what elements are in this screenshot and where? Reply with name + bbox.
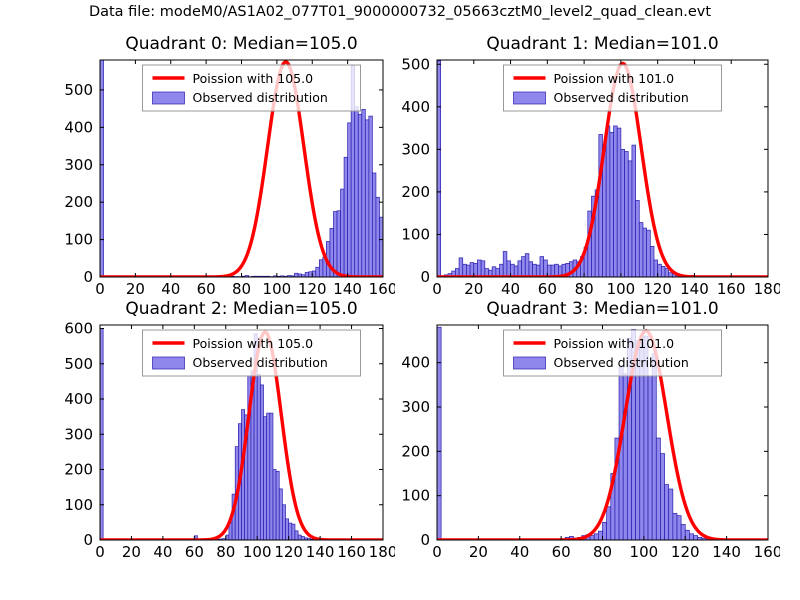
histogram-bar <box>654 260 658 277</box>
histogram-bar <box>292 524 295 540</box>
histogram-bar <box>337 211 341 277</box>
histogram-bar <box>301 536 304 540</box>
x-tick-label: 140 <box>333 280 362 298</box>
histogram-bar <box>632 145 636 277</box>
y-tick-label: 400 <box>64 390 93 408</box>
x-tick-label: 160 <box>754 543 780 561</box>
histogram-bar <box>544 260 548 277</box>
y-tick-label: 200 <box>401 442 430 460</box>
histogram-bar <box>665 268 669 277</box>
histogram-bar <box>333 212 337 277</box>
chart-svg-quadrant-3: 0204060801001201401600100200300400Poissi… <box>379 319 780 566</box>
histogram-bar <box>677 516 681 540</box>
histogram-bar <box>344 157 348 277</box>
histogram-bar <box>540 257 544 277</box>
histogram-bar <box>437 61 441 277</box>
legend-bar-swatch <box>153 357 185 369</box>
x-tick-label: 60 <box>552 543 571 561</box>
chart-legend: Poission with 101.0Observed distribution <box>504 330 722 376</box>
histogram-bar <box>594 534 598 540</box>
histogram-bar <box>470 263 474 277</box>
chart-panel-quadrant-2: Quadrant 2: Median=105.00204060801001201… <box>42 319 395 566</box>
y-tick-label: 300 <box>64 425 93 443</box>
histogram-bar <box>628 161 632 277</box>
legend-bar-swatch <box>514 357 546 369</box>
x-tick-label: 100 <box>630 543 659 561</box>
histogram-bar <box>650 246 654 277</box>
x-tick-label: 140 <box>306 543 335 561</box>
x-tick-label: 80 <box>216 543 235 561</box>
y-tick-label: 400 <box>64 118 93 136</box>
x-tick-label: 80 <box>593 543 612 561</box>
chart-title-quadrant-1: Quadrant 1: Median=101.0 <box>437 34 768 54</box>
histogram-bar <box>689 534 693 540</box>
histogram-bar <box>652 354 656 540</box>
histogram-bar <box>282 505 285 540</box>
histogram-bar <box>606 126 610 277</box>
histogram-bar <box>369 116 373 277</box>
histogram-bar <box>685 530 689 540</box>
histogram-bar <box>372 173 376 277</box>
chart-panel-quadrant-0: Quadrant 0: Median=105.00204060801001201… <box>42 54 395 303</box>
x-tick-label: 60 <box>197 280 216 298</box>
x-tick-label: 40 <box>153 543 172 561</box>
chart-legend: Poission with 101.0Observed distribution <box>504 65 722 111</box>
x-tick-label: 140 <box>712 543 741 561</box>
histogram-bar <box>295 531 298 540</box>
x-tick-label: 100 <box>243 543 272 561</box>
histogram-bar <box>621 149 625 277</box>
histogram-bar <box>669 489 673 540</box>
histogram-bar <box>681 524 685 540</box>
histogram-bar <box>295 273 299 277</box>
x-tick-label: 20 <box>469 543 488 561</box>
histogram-bar <box>598 531 602 540</box>
histogram-bar <box>309 272 313 277</box>
histogram-bar <box>437 327 441 540</box>
histogram-bar <box>536 265 540 277</box>
legend-label-observed: Observed distribution <box>193 90 328 105</box>
y-tick-label: 300 <box>401 140 430 158</box>
histogram-bar <box>643 228 647 277</box>
legend-bar-swatch <box>514 92 546 104</box>
histogram-bar <box>614 126 618 277</box>
legend-label-observed: Observed distribution <box>193 355 328 370</box>
x-tick-label: 120 <box>274 543 303 561</box>
histogram-bar <box>658 264 662 277</box>
histogram-bar <box>365 120 369 277</box>
histogram-bar <box>607 507 611 540</box>
histogram-bar <box>355 107 359 277</box>
histogram-bar <box>661 266 665 277</box>
histogram-bar <box>590 536 594 540</box>
y-tick-label: 0 <box>420 531 430 549</box>
x-tick-label: 40 <box>161 280 180 298</box>
y-tick-label: 100 <box>64 231 93 249</box>
histogram-bar <box>273 470 276 540</box>
x-tick-label: 20 <box>122 543 141 561</box>
data-file-title: Data file: modeM0/AS1A02_077T01_90000007… <box>0 4 800 20</box>
figure-canvas: Data file: modeM0/AS1A02_077T01_90000007… <box>0 0 800 600</box>
y-tick-label: 100 <box>401 225 430 243</box>
x-tick-label: 80 <box>232 280 251 298</box>
histogram-bar <box>625 151 629 277</box>
y-tick-label: 100 <box>64 496 93 514</box>
histogram-bar <box>362 109 366 277</box>
histogram-bar <box>503 251 507 277</box>
x-tick-label: 40 <box>501 280 520 298</box>
histogram-bar <box>298 535 301 540</box>
histogram-bar <box>617 128 621 277</box>
histogram-bar <box>500 264 504 277</box>
histogram-bar <box>507 261 511 277</box>
histogram-bar <box>474 263 478 277</box>
y-tick-label: 200 <box>64 193 93 211</box>
histogram-bar <box>305 273 309 277</box>
x-tick-label: 180 <box>754 280 780 298</box>
histogram-bar <box>260 385 263 540</box>
x-tick-label: 140 <box>680 280 709 298</box>
x-tick-label: 120 <box>298 280 327 298</box>
y-tick-label: 200 <box>401 183 430 201</box>
histogram-bar <box>348 123 352 277</box>
histogram-bar <box>533 264 537 277</box>
x-tick-label: 40 <box>510 543 529 561</box>
histogram-bar <box>518 261 522 277</box>
x-tick-label: 0 <box>432 543 442 561</box>
y-tick-label: 500 <box>401 55 430 73</box>
legend-label-poisson: Poission with 105.0 <box>193 336 314 351</box>
chart-title-quadrant-0: Quadrant 0: Median=105.0 <box>100 34 383 54</box>
x-tick-label: 100 <box>263 280 292 298</box>
histogram-bar <box>276 471 279 540</box>
chart-legend: Poission with 105.0Observed distribution <box>143 65 361 111</box>
y-tick-label: 0 <box>420 268 430 286</box>
histogram-bar <box>341 189 345 277</box>
y-tick-label: 400 <box>401 98 430 116</box>
histogram-bar <box>636 200 640 277</box>
y-tick-label: 500 <box>64 81 93 99</box>
x-tick-label: 0 <box>95 543 105 561</box>
x-tick-label: 60 <box>538 280 557 298</box>
histogram-bar <box>477 260 481 277</box>
histogram-bar <box>100 60 104 277</box>
histogram-bar <box>603 522 607 540</box>
y-tick-label: 100 <box>401 487 430 505</box>
x-tick-label: 20 <box>126 280 145 298</box>
chart-title-quadrant-3: Quadrant 3: Median=101.0 <box>437 299 768 319</box>
histogram-bar <box>481 261 485 277</box>
y-tick-label: 0 <box>83 531 93 549</box>
histogram-bar <box>316 267 320 277</box>
legend-label-observed: Observed distribution <box>554 355 689 370</box>
histogram-bar <box>660 454 664 540</box>
x-tick-label: 0 <box>432 280 442 298</box>
x-tick-label: 120 <box>643 280 672 298</box>
histogram-bar <box>610 132 614 277</box>
histogram-bar <box>279 489 282 540</box>
x-tick-label: 60 <box>185 543 204 561</box>
histogram-bar <box>648 376 652 540</box>
histogram-bar <box>319 260 323 277</box>
chart-svg-quadrant-1: 0204060801001201401601800100200300400500… <box>379 54 780 303</box>
y-tick-label: 300 <box>401 398 430 416</box>
x-tick-label: 160 <box>717 280 746 298</box>
histogram-bar <box>647 230 651 277</box>
histogram-bar <box>463 264 467 277</box>
legend-label-poisson: Poission with 101.0 <box>554 71 675 86</box>
x-tick-label: 160 <box>337 543 366 561</box>
x-tick-label: 120 <box>671 543 700 561</box>
y-tick-label: 600 <box>64 320 93 338</box>
histogram-bar <box>466 265 470 277</box>
x-tick-label: 0 <box>95 280 105 298</box>
histogram-bar <box>529 262 533 277</box>
histogram-bar <box>267 413 270 540</box>
histogram-bar <box>257 374 260 540</box>
histogram-bar <box>459 258 463 277</box>
histogram-bar <box>525 254 529 277</box>
histogram-bar <box>694 536 698 540</box>
histogram-bar <box>511 264 515 277</box>
y-tick-label: 0 <box>83 268 93 286</box>
chart-title-quadrant-2: Quadrant 2: Median=105.0 <box>100 299 383 319</box>
legend-bar-swatch <box>153 92 185 104</box>
histogram-bar <box>669 273 673 277</box>
histogram-bar <box>312 271 316 277</box>
x-tick-label: 80 <box>575 280 594 298</box>
x-tick-label: 100 <box>607 280 636 298</box>
y-tick-label: 200 <box>64 461 93 479</box>
histogram-bar <box>665 485 669 540</box>
histogram-bar <box>639 223 643 277</box>
chart-panel-quadrant-3: Quadrant 3: Median=101.00204060801001201… <box>379 319 780 566</box>
x-tick-label: 20 <box>464 280 483 298</box>
histogram-bar <box>522 257 526 277</box>
histogram-bar <box>673 513 677 540</box>
y-tick-label: 300 <box>64 156 93 174</box>
legend-label-poisson: Poission with 101.0 <box>554 336 675 351</box>
histogram-bar <box>358 114 362 277</box>
chart-panel-quadrant-1: Quadrant 1: Median=101.00204060801001201… <box>379 54 780 303</box>
histogram-bar <box>656 438 660 540</box>
legend-label-observed: Observed distribution <box>554 90 689 105</box>
chart-svg-quadrant-2: 0204060801001201401601800100200300400500… <box>42 319 395 566</box>
legend-label-poisson: Poission with 105.0 <box>193 71 314 86</box>
y-tick-label: 500 <box>64 355 93 373</box>
chart-legend: Poission with 105.0Observed distribution <box>143 330 361 376</box>
chart-svg-quadrant-0: 0204060801001201401600100200300400500Poi… <box>42 54 395 303</box>
histogram-bar <box>270 413 273 540</box>
y-tick-label: 400 <box>401 354 430 372</box>
histogram-bar <box>264 417 267 540</box>
